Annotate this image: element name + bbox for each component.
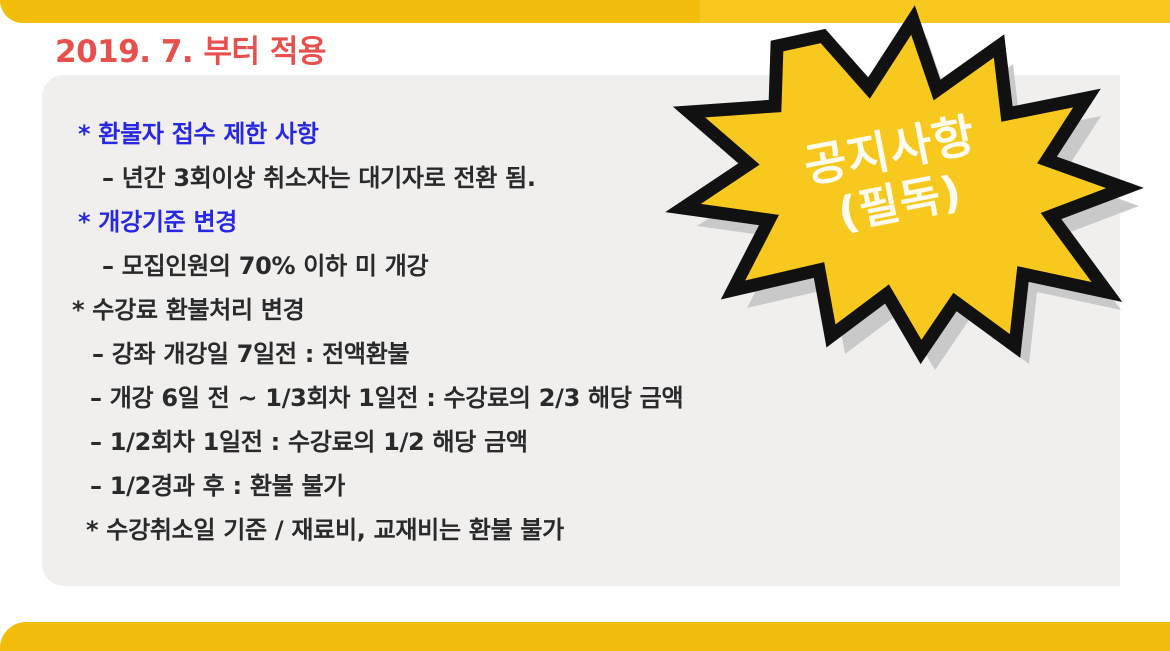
notice-slide: 2019. 7. 부터 적용 * 환불자 접수 제한 사항 – 년간 3회이상 … bbox=[0, 0, 1170, 651]
starburst-shape bbox=[683, 20, 1125, 352]
page-title: 2019. 7. 부터 적용 bbox=[55, 26, 326, 71]
bottom-banner-bar bbox=[0, 622, 1170, 651]
notice-line: – 개강 6일 전 ~ 1/3회차 1일전 : 수강료의 2/3 해당 금액 bbox=[60, 376, 760, 420]
top-banner-bar-left-segment bbox=[0, 0, 700, 23]
notice-line: – 1/2회차 1일전 : 수강료의 1/2 해당 금액 bbox=[60, 420, 760, 464]
notice-line: – 1/2경과 후 : 환불 불가 bbox=[60, 464, 760, 508]
notice-line: * 수강취소일 기준 / 재료비, 교재비는 환불 불가 bbox=[60, 508, 760, 552]
notice-starburst-badge: 공지사항 (필독) bbox=[655, 2, 1135, 352]
